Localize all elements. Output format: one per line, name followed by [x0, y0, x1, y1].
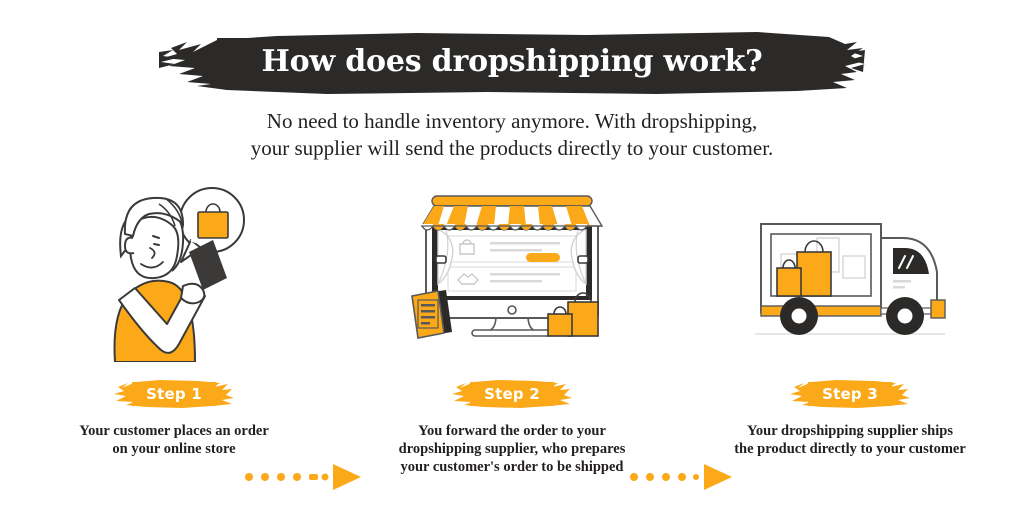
- step-2-badge-label: Step 2: [484, 385, 540, 403]
- arrow-step2-to-step3: [628, 464, 732, 490]
- caption-line: dropshipping supplier, who prepares: [362, 440, 662, 458]
- delivery-truck-icon: [745, 182, 955, 362]
- subtitle-line-1: No need to handle inventory anymore. Wit…: [0, 108, 1024, 135]
- step-1-badge-label: Step 1: [146, 385, 202, 403]
- title-brush-banner: How does dropshipping work?: [157, 28, 867, 96]
- caption-line: Your customer places an order: [24, 422, 324, 440]
- step-3-badge-label: Step 3: [822, 385, 878, 403]
- subtitle-line-2: your supplier will send the products dir…: [0, 135, 1024, 162]
- step-3-illustration: [700, 182, 1000, 362]
- infographic-canvas: How does dropshipping work? No need to h…: [0, 0, 1024, 512]
- step-2-caption: You forward the order to your dropshippi…: [362, 422, 662, 476]
- page-title: How does dropshipping work?: [261, 44, 762, 79]
- caption-line: the product directly to your customer: [700, 440, 1000, 458]
- title-banner-container: How does dropshipping work?: [0, 26, 1024, 98]
- caption-line: You forward the order to your: [362, 422, 662, 440]
- step-3: Step 3 Your dropshipping supplier ships …: [700, 182, 1000, 492]
- caption-line: Your dropshipping supplier ships: [700, 422, 1000, 440]
- step-2-badge: Step 2: [450, 378, 574, 410]
- step-1-illustration: [24, 182, 324, 362]
- steps-row: Step 1 Your customer places an order on …: [0, 182, 1024, 492]
- subtitle: No need to handle inventory anymore. Wit…: [0, 108, 1024, 162]
- step-2: Step 2 You forward the order to your dro…: [362, 182, 662, 492]
- caption-line: your customer's order to be shipped: [362, 458, 662, 476]
- step-1: Step 1 Your customer places an order on …: [24, 182, 324, 492]
- storefront-monitor-icon: [402, 182, 622, 362]
- caption-line: on your online store: [24, 440, 324, 458]
- dotted-arrow-right-icon: [243, 464, 361, 490]
- arrow-step1-to-step2: [243, 464, 361, 490]
- dotted-arrow-right-icon: [628, 464, 732, 490]
- step-1-caption: Your customer places an order on your on…: [24, 422, 324, 458]
- sandwich-board-sign-icon: [412, 290, 452, 338]
- step-1-badge: Step 1: [112, 378, 236, 410]
- step-3-caption: Your dropshipping supplier ships the pro…: [700, 422, 1000, 458]
- awning-icon: [422, 196, 602, 230]
- woman-with-phone-icon: [79, 182, 269, 362]
- step-2-illustration: [362, 182, 662, 362]
- step-3-badge: Step 3: [788, 378, 912, 410]
